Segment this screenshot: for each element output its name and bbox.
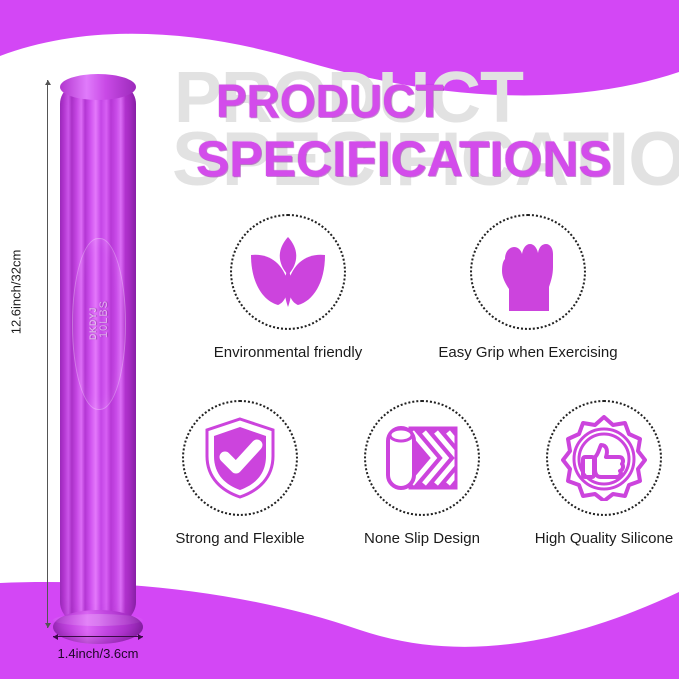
feature-label: None Slip Design	[364, 530, 480, 547]
title-line-1: PRODUCT	[216, 78, 443, 124]
diameter-dimension-label: 1.4inch/3.6cm	[58, 646, 139, 661]
page-title: PRODUCT SPECIFICATIONS PRODUCT SPECIFICA…	[176, 56, 679, 206]
bar-foot-highlight	[53, 614, 143, 626]
length-dimension-line	[47, 80, 48, 628]
feature-grid: Environmental friendly Easy Grip when Ex…	[160, 214, 679, 574]
length-dimension-label: 12.6inch/32cm	[9, 222, 24, 362]
rolled-mat-chevron-icon	[382, 422, 462, 494]
feature-icon-circle	[230, 214, 346, 330]
feature-label: Environmental friendly	[214, 344, 362, 361]
feature-high-quality-silicone: High Quality Silicone	[524, 400, 679, 547]
quality-badge-thumbs-up-icon	[561, 415, 647, 501]
feature-icon-circle	[182, 400, 298, 516]
feature-label: High Quality Silicone	[535, 530, 673, 547]
shield-check-icon	[201, 416, 279, 500]
feature-label: Easy Grip when Exercising	[438, 344, 617, 361]
feature-icon-circle	[470, 214, 586, 330]
feature-icon-circle	[546, 400, 662, 516]
feature-strong-flexible: Strong and Flexible	[160, 400, 320, 547]
diameter-dimension-line	[53, 636, 143, 637]
feature-environmental-friendly: Environmental friendly	[208, 214, 368, 361]
exercise-bar: DKDYJ 10LBS	[60, 78, 136, 628]
feature-easy-grip: Easy Grip when Exercising	[448, 214, 608, 361]
feature-icon-circle	[364, 400, 480, 516]
weight-emboss-text: 10LBS	[98, 300, 110, 338]
feature-row-bottom: Strong and Flexible	[160, 400, 679, 547]
feature-none-slip-design: None Slip Design	[342, 400, 502, 547]
infographic-canvas: 12.6inch/32cm DKDYJ 10LBS 1.4inch/3.6cm …	[0, 0, 679, 679]
brand-emboss-text: DKDYJ	[88, 300, 98, 348]
product-illustration: 12.6inch/32cm DKDYJ 10LBS 1.4inch/3.6cm	[0, 0, 175, 679]
feature-row-top: Environmental friendly Easy Grip when Ex…	[208, 214, 608, 361]
feature-label: Strong and Flexible	[175, 530, 304, 547]
bar-top-cap	[60, 74, 136, 100]
title-line-2: SPECIFICATIONS	[196, 134, 612, 184]
bar-badge-text: DKDYJ 10LBS	[88, 300, 110, 348]
leaf-plant-icon	[247, 233, 329, 311]
fist-grip-icon	[493, 231, 563, 313]
bar-emboss-badge: DKDYJ 10LBS	[72, 238, 126, 410]
